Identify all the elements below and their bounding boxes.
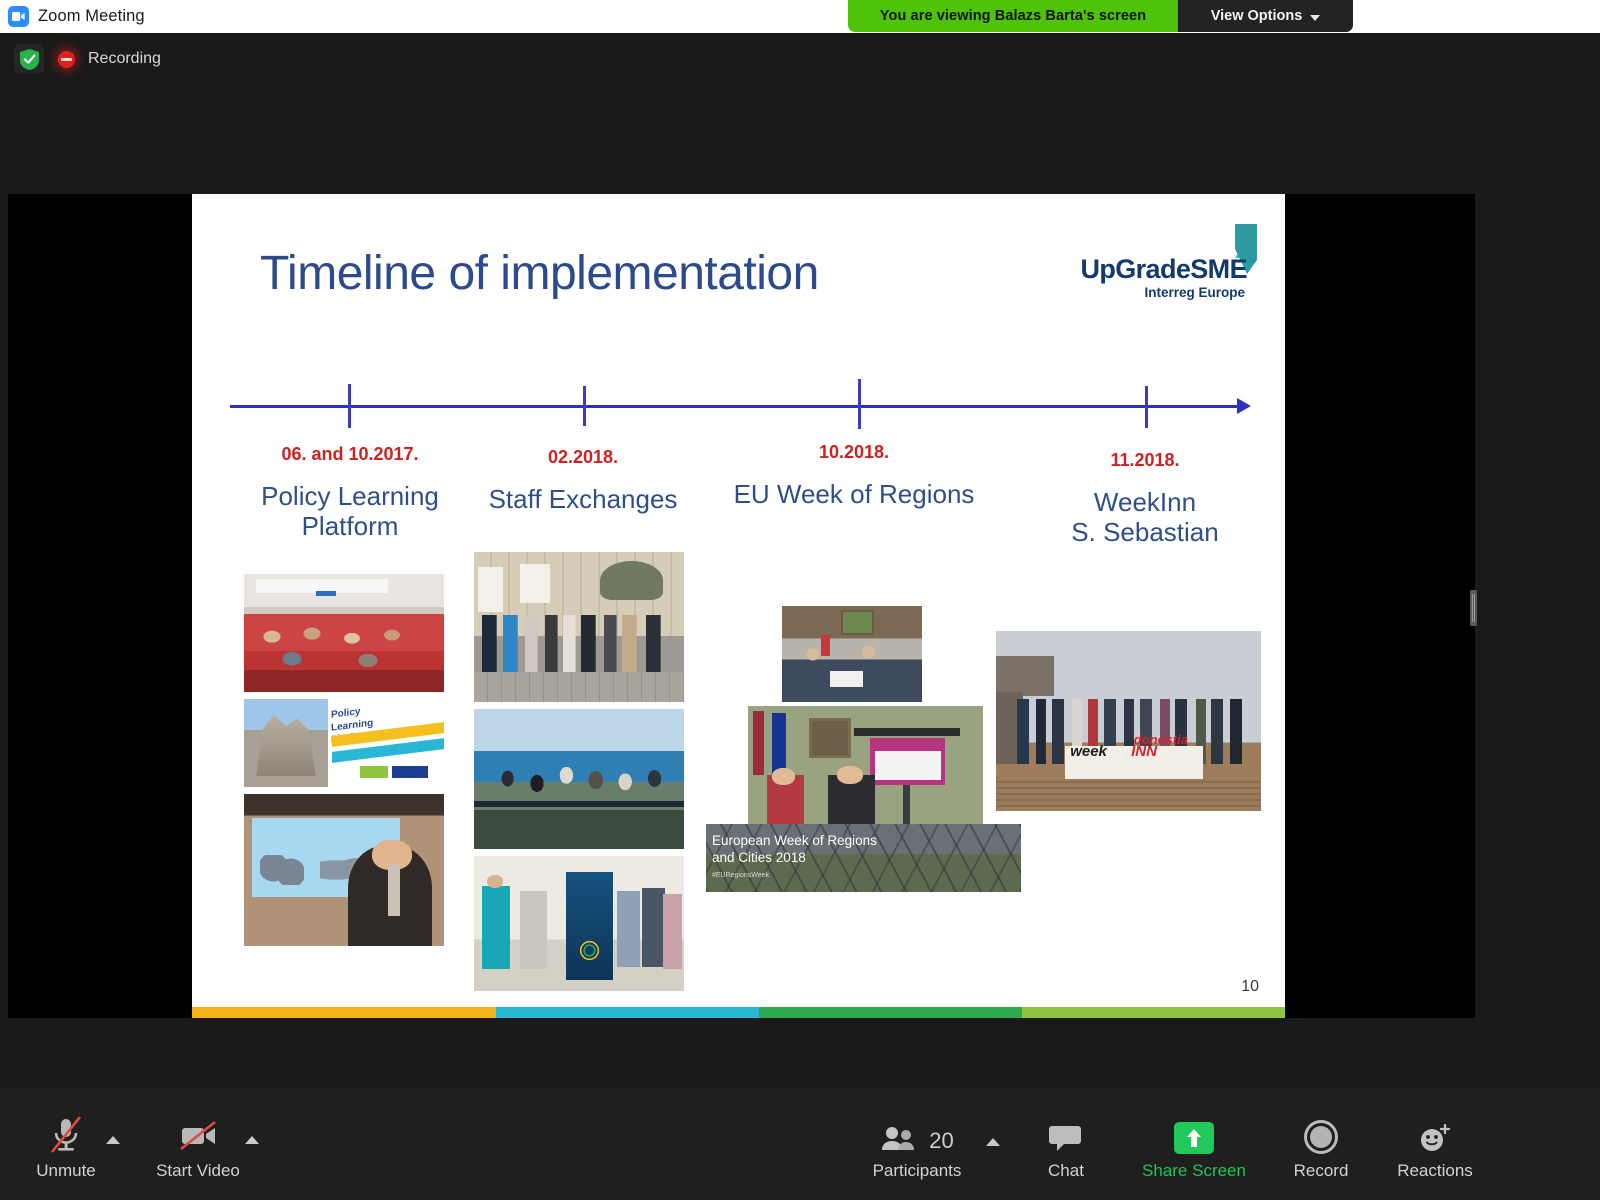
toolbar-reactions-button[interactable]: Reactions bbox=[1375, 1110, 1495, 1181]
chevron-down-icon bbox=[1310, 15, 1320, 21]
recording-status: Recording bbox=[14, 44, 161, 74]
toolbar-participants-button[interactable]: 20 Participants bbox=[857, 1110, 977, 1181]
toolbar-start-video-button[interactable]: Start Video bbox=[138, 1110, 258, 1181]
share-arrow-up-icon bbox=[1174, 1110, 1214, 1154]
milestone-label: WeekInn S. Sebastian bbox=[1019, 488, 1271, 548]
slide-color-bar bbox=[192, 1007, 1285, 1018]
photo-weekinn-group: week donostia INN bbox=[996, 631, 1261, 811]
toolbar-unmute-button[interactable]: Unmute bbox=[6, 1110, 126, 1181]
chat-bubble-icon bbox=[1048, 1110, 1084, 1154]
color-bar-segment-3 bbox=[759, 1007, 1022, 1018]
timeline-milestone-2: 02.2018. Staff Exchanges bbox=[457, 447, 709, 515]
timeline-tick-4 bbox=[1145, 386, 1148, 428]
photo-staff-exchange-group-seaside bbox=[474, 709, 684, 849]
record-circle-icon bbox=[1304, 1110, 1338, 1154]
photo-staff-exchange-office-group bbox=[474, 856, 684, 991]
toolbar-record-label: Record bbox=[1294, 1161, 1349, 1181]
smiley-plus-icon bbox=[1416, 1110, 1454, 1154]
presentation-slide: Timeline of implementation UpGradeSME In… bbox=[192, 194, 1285, 1018]
milestone-label-line1: Policy Learning bbox=[216, 482, 484, 512]
timeline-arrow-icon bbox=[1237, 398, 1251, 414]
logo-subtitle: Interreg Europe bbox=[1144, 285, 1245, 300]
zoom-meeting-window: Zoom Meeting You are viewing Balazs Bart… bbox=[0, 0, 1600, 1200]
video-camera-icon bbox=[8, 6, 29, 27]
photo-policy-learning-audience bbox=[244, 574, 444, 692]
color-bar-segment-4 bbox=[1022, 1007, 1285, 1018]
window-title: Zoom Meeting bbox=[38, 7, 145, 26]
record-dot-icon bbox=[54, 47, 78, 71]
toolbar-chat-label: Chat bbox=[1048, 1161, 1084, 1181]
toolbar-record-button[interactable]: Record bbox=[1261, 1110, 1381, 1181]
people-icon: 20 bbox=[880, 1110, 953, 1154]
microphone-muted-icon bbox=[49, 1110, 83, 1154]
photo-policy-learning-platform-banner: PolicyLearningPlatform bbox=[244, 699, 444, 787]
panel-resize-handle[interactable] bbox=[1470, 590, 1477, 626]
milestone-date: 06. and 10.2017. bbox=[216, 444, 484, 465]
video-options-caret[interactable] bbox=[245, 1136, 259, 1144]
milestone-label-line1: EU Week of Regions bbox=[728, 480, 980, 510]
photo-staff-exchange-group-outside bbox=[474, 552, 684, 702]
upgradesme-logo: UpGradeSME Interreg Europe bbox=[1057, 224, 1257, 299]
title-bar: Zoom Meeting bbox=[0, 0, 1600, 33]
toolbar-share-screen-button[interactable]: Share Screen bbox=[1134, 1110, 1254, 1181]
participants-count: 20 bbox=[929, 1128, 953, 1154]
timeline-milestone-4: 11.2018. WeekInn S. Sebastian bbox=[1019, 450, 1271, 548]
photo-eu-week-banner: European Week of Regionsand Cities 2018 … bbox=[706, 824, 1021, 892]
photo-speaker-presentation bbox=[244, 794, 444, 946]
toolbar-reactions-label: Reactions bbox=[1397, 1161, 1473, 1181]
logo-name: UpGradeSME bbox=[1080, 254, 1247, 285]
color-bar-segment-1 bbox=[192, 1007, 496, 1018]
timeline-tick-2 bbox=[583, 386, 586, 426]
milestone-date: 02.2018. bbox=[457, 447, 709, 468]
timeline-axis bbox=[230, 405, 1240, 408]
milestone-date: 11.2018. bbox=[1019, 450, 1271, 471]
milestone-label-line1: Staff Exchanges bbox=[457, 485, 709, 515]
meeting-toolbar: Unmute Start Video bbox=[0, 1088, 1600, 1200]
milestone-label: Staff Exchanges bbox=[457, 485, 709, 515]
screen-share-banner-text: You are viewing Balazs Barta's screen bbox=[880, 8, 1146, 24]
photo-eu-week-panel bbox=[748, 706, 983, 830]
page-title: Timeline of implementation bbox=[260, 246, 819, 301]
milestone-label-line2: Platform bbox=[216, 512, 484, 542]
timeline-tick-3 bbox=[858, 379, 861, 429]
participants-options-caret[interactable] bbox=[986, 1138, 1000, 1146]
toolbar-chat-button[interactable]: Chat bbox=[1006, 1110, 1126, 1181]
milestone-label: Policy Learning Platform bbox=[216, 482, 484, 542]
timeline-tick-1 bbox=[348, 384, 351, 428]
shield-check-icon[interactable] bbox=[14, 44, 44, 74]
milestone-label-line2: S. Sebastian bbox=[1019, 518, 1271, 548]
milestone-label-line1: WeekInn bbox=[1019, 488, 1271, 518]
milestone-label: EU Week of Regions bbox=[728, 480, 980, 510]
toolbar-participants-label: Participants bbox=[873, 1161, 962, 1181]
screen-share-banner: You are viewing Balazs Barta's screen bbox=[848, 0, 1178, 32]
view-options-button[interactable]: View Options bbox=[1178, 0, 1353, 32]
view-options-label: View Options bbox=[1211, 8, 1303, 24]
color-bar-segment-2 bbox=[496, 1007, 759, 1018]
toolbar-unmute-label: Unmute bbox=[36, 1161, 96, 1181]
photo-eu-week-conference-room bbox=[782, 606, 922, 702]
toolbar-share-screen-label: Share Screen bbox=[1142, 1161, 1246, 1181]
timeline-milestone-3: 10.2018. EU Week of Regions bbox=[728, 442, 980, 510]
audio-options-caret[interactable] bbox=[106, 1136, 120, 1144]
recording-label: Recording bbox=[88, 50, 161, 68]
slide-page-number: 10 bbox=[1241, 978, 1259, 996]
toolbar-start-video-label: Start Video bbox=[156, 1161, 240, 1181]
video-muted-icon bbox=[178, 1110, 218, 1154]
milestone-date: 10.2018. bbox=[728, 442, 980, 463]
timeline-milestone-1: 06. and 10.2017. Policy Learning Platfor… bbox=[216, 444, 484, 542]
